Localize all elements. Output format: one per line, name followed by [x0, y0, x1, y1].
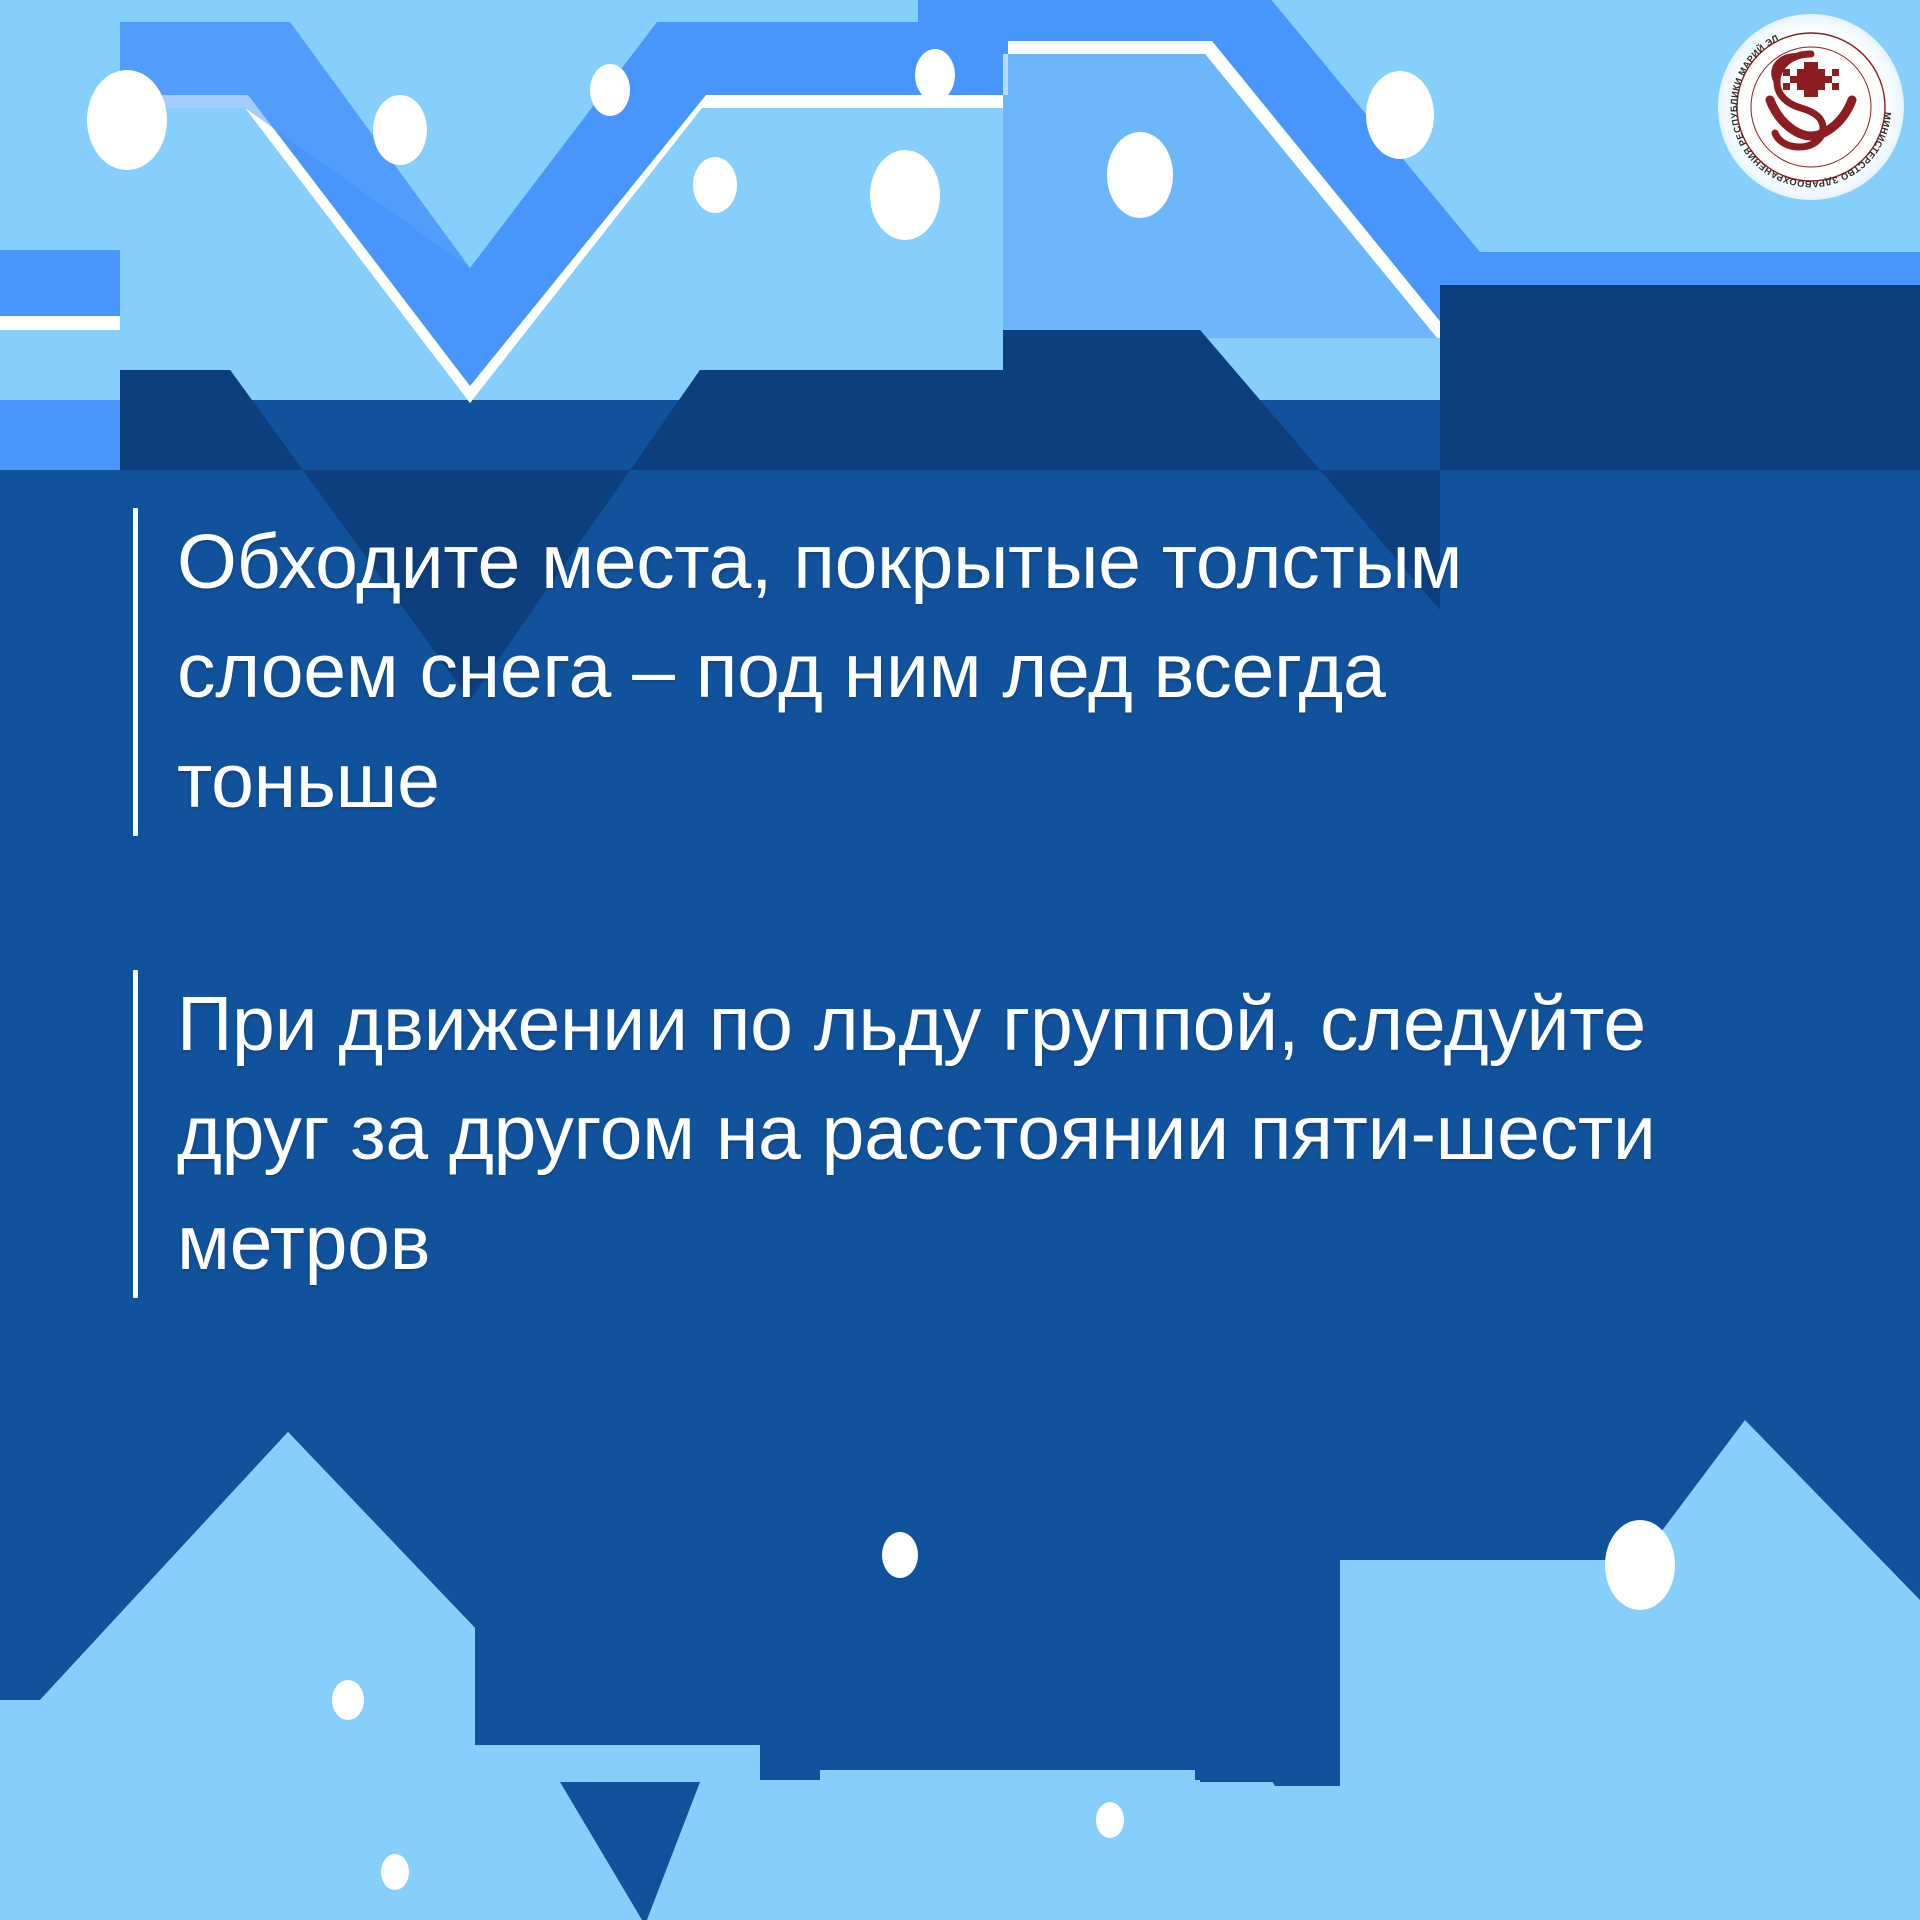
- tip-item-1: Обходите места, покрытые толстым слоем с…: [133, 508, 1773, 836]
- tip-text-1: Обходите места, покрытые толстым слоем с…: [138, 508, 1507, 836]
- tip-text-2: При движении по льду группой, следуйте д…: [138, 970, 1777, 1298]
- poster-canvas: МИНИСТЕРСТВО ЗДРАВООХРАНЕНИЯ РЕСПУБЛИКИ …: [0, 0, 1920, 1920]
- tip-item-2: При движении по льду группой, следуйте д…: [133, 970, 1853, 1298]
- tips-content: Обходите места, покрытые толстым слоем с…: [0, 0, 1920, 1920]
